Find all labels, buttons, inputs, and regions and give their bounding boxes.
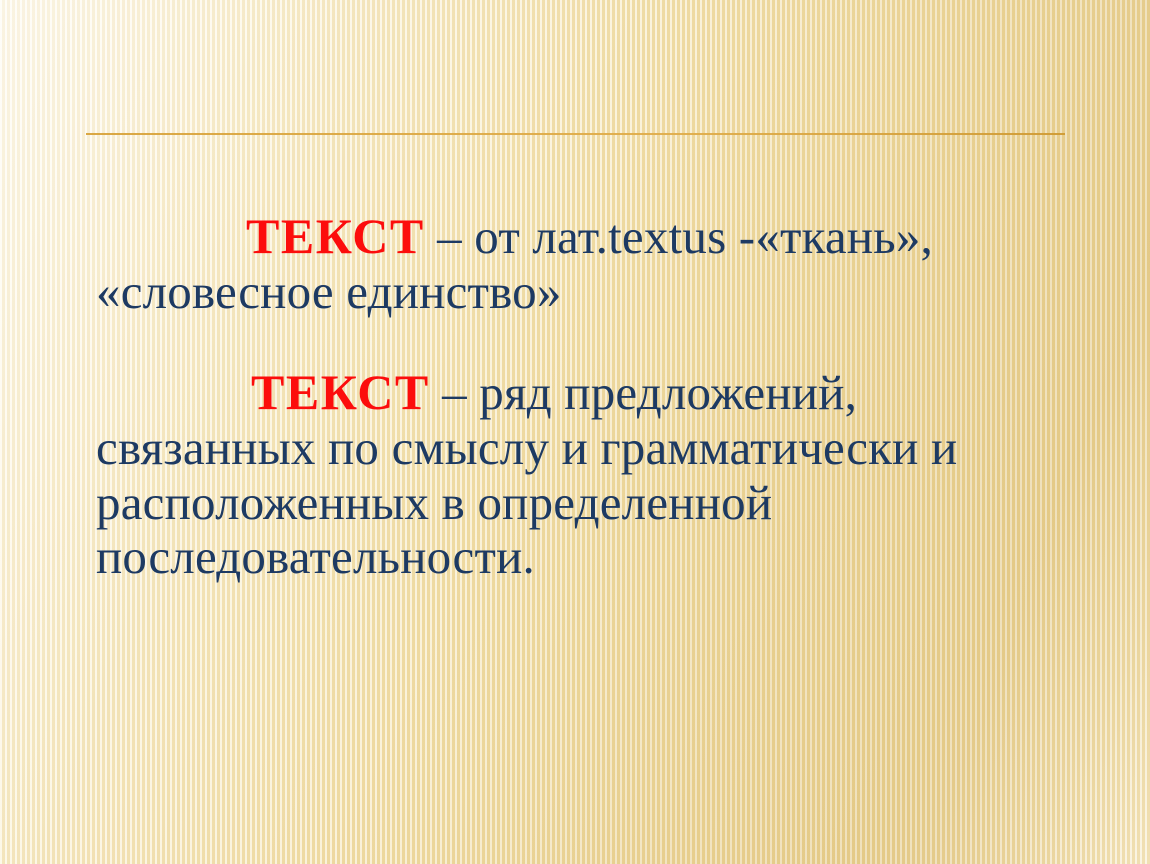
definition-paragraph-1: ТЕКСТ – от лат.textus -«ткань», «словесн… bbox=[96, 208, 1076, 320]
keyword-tekst-2: ТЕКСТ bbox=[251, 364, 430, 420]
definition-text-1: от лат.textus -«ткань», «словесное единс… bbox=[96, 209, 933, 319]
separator-dash-1: – bbox=[425, 209, 475, 264]
definition-text-2: ряд предложений, связанных по смыслу и г… bbox=[96, 365, 957, 585]
keyword-tekst-1: ТЕКСТ bbox=[246, 208, 425, 264]
definition-paragraph-2: ТЕКСТ – ряд предложений, связанных по см… bbox=[96, 364, 1076, 586]
separator-dash-2: – bbox=[430, 365, 480, 420]
slide-body: ТЕКСТ – от лат.textus -«ткань», «словесн… bbox=[96, 208, 1076, 585]
slide: ТЕКСТ – от лат.textus -«ткань», «словесн… bbox=[0, 0, 1150, 864]
header-divider bbox=[86, 133, 1065, 135]
